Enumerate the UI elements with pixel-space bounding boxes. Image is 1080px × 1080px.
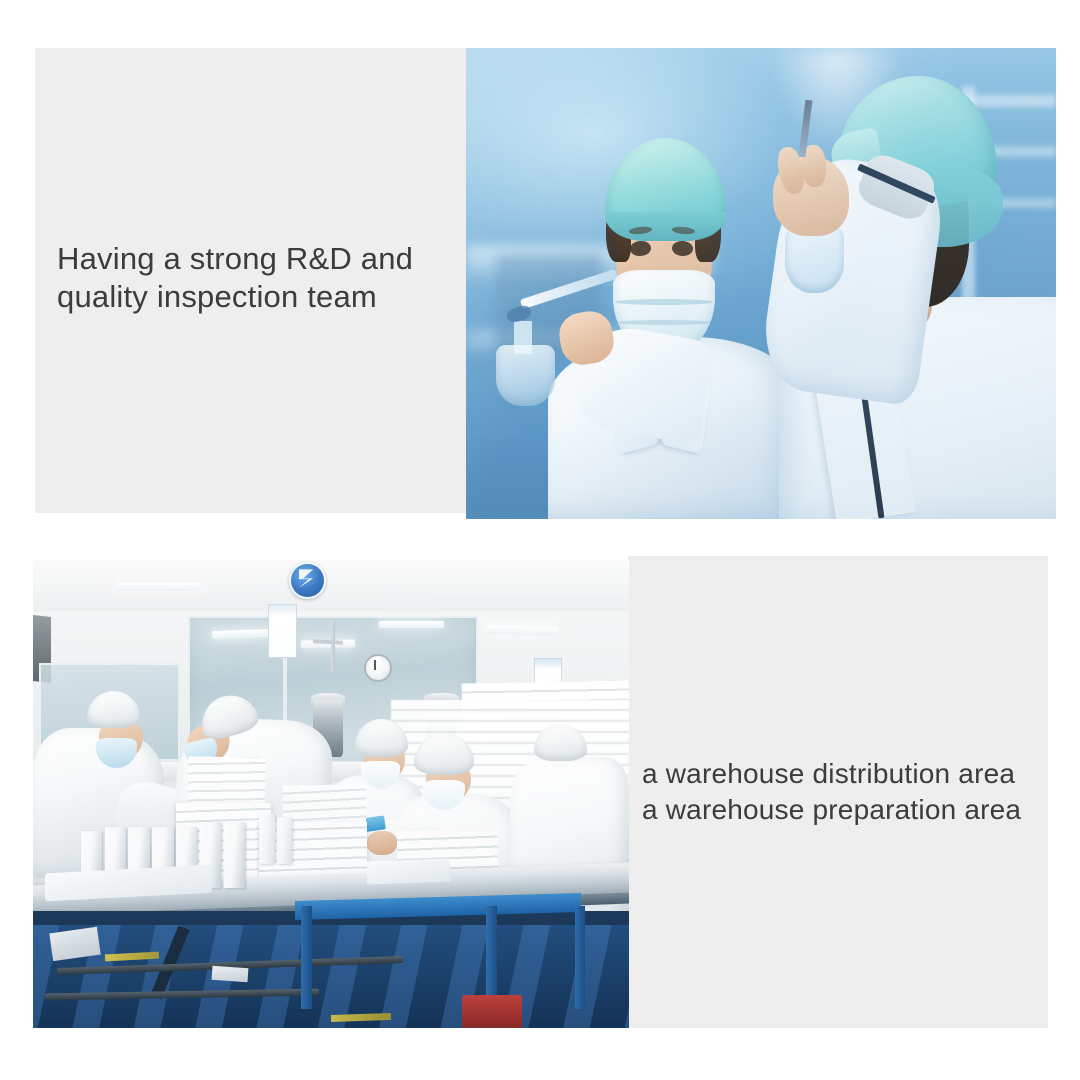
- wall-notice-board-left: [268, 604, 297, 657]
- technician-front-mask-fold-1: [616, 299, 712, 304]
- white-bottle-1: [259, 813, 274, 864]
- floor-red-item: [462, 995, 522, 1028]
- warehouse-packing-photo: [33, 560, 629, 1028]
- ceiling-lamp-5: [116, 583, 199, 590]
- wall-clock-hand: [374, 660, 376, 669]
- table-leg-1: [301, 906, 312, 1009]
- ceiling-lamp-3: [379, 621, 445, 628]
- carton-stack-left-upper: [188, 756, 266, 809]
- table-leg-3: [575, 906, 585, 1009]
- banner-page: Having a strong R&D and quality inspecti…: [0, 0, 1080, 1080]
- section-rd-quality: Having a strong R&D and quality inspecti…: [0, 0, 1080, 530]
- floor-white-item-2: [211, 966, 248, 982]
- wall-clock-icon: [364, 654, 392, 682]
- lab-quality-inspection-photo: [466, 48, 1056, 519]
- ceiling-lamp-4: [486, 624, 558, 635]
- sample-flask-raised: [785, 227, 844, 293]
- packing-sheet-right: [367, 858, 450, 884]
- white-bottle-2: [277, 817, 291, 864]
- ceiling-pipe: [331, 621, 335, 672]
- worker-4-hand: [367, 831, 397, 854]
- section-warehouse: a warehouse distribution area a warehous…: [0, 530, 1080, 1080]
- warehouse-floor-blue: [33, 925, 629, 1028]
- sample-flask-lower-neck: [514, 321, 532, 354]
- caption-warehouse: a warehouse distribution area a warehous…: [642, 756, 1052, 828]
- carton-upright-7: [224, 822, 245, 888]
- caption-rd-quality: Having a strong R&D and quality inspecti…: [57, 240, 457, 317]
